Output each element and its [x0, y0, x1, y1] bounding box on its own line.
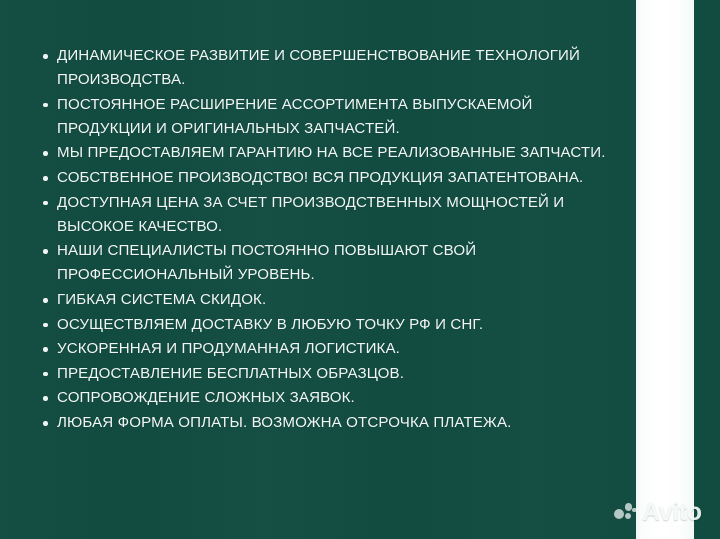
list-item: Доступная цена за счет производственных … [36, 191, 616, 239]
list-item: Осуществляем доставку в любую точку РФ и… [36, 313, 616, 337]
avito-wordmark: Avito [642, 500, 702, 525]
list-item: Любая форма оплаты. Возможна отсрочка пл… [36, 411, 616, 435]
list-item: Гибкая система скидок. [36, 288, 616, 312]
list-item: Ускоренная и продуманная логистика. [36, 337, 616, 361]
list-item: Мы предоставляем гарантию на все реализо… [36, 141, 616, 165]
right-white-band [636, 0, 694, 539]
avito-watermark: Avito [614, 500, 702, 525]
listing-image-canvas: Динамическое развитие и совершенствовани… [0, 0, 720, 539]
list-item: Собственное производство! Вся продукция … [36, 166, 616, 190]
list-item: Постоянное расширение ассортимента выпус… [36, 93, 616, 141]
list-item: Наши специалисты постоянно повышают свой… [36, 239, 616, 287]
advantages-list: Динамическое развитие и совершенствовани… [36, 44, 616, 436]
avito-dots-icon [614, 501, 639, 525]
list-item: Сопровождение сложных заявок. [36, 386, 616, 410]
list-item: Предоставление бесплатных образцов. [36, 362, 616, 386]
list-item: Динамическое развитие и совершенствовани… [36, 44, 616, 92]
